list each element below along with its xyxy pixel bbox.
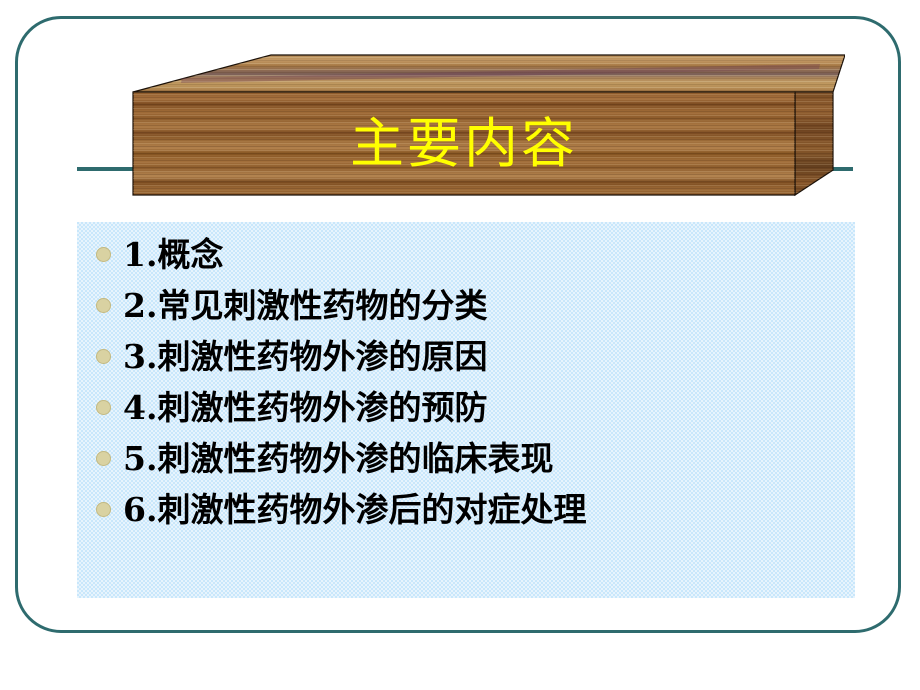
bullet-list: 1.概念 2.常见刺激性药物的分类 3.刺激性药物外渗的原因 4.刺激性药物外渗… — [89, 229, 855, 535]
bullet-dot-icon — [96, 502, 111, 517]
list-item-label: 6.刺激性药物外渗后的对症处理 — [123, 493, 586, 526]
bullet-dot-icon — [96, 400, 111, 415]
list-item-label: 5.刺激性药物外渗的临床表现 — [123, 442, 553, 475]
bullet-dot-icon — [96, 247, 111, 262]
bullet-dot-icon — [96, 451, 111, 466]
list-item[interactable]: 3.刺激性药物外渗的原因 — [89, 331, 855, 382]
list-item[interactable]: 5.刺激性药物外渗的临床表现 — [89, 433, 855, 484]
list-item-label: 3.刺激性药物外渗的原因 — [123, 340, 487, 373]
bullet-dot-icon — [96, 298, 111, 313]
bullet-dot-icon — [96, 349, 111, 364]
list-item-label: 2.常见刺激性药物的分类 — [123, 289, 487, 322]
page-title: 主要内容 — [133, 92, 795, 195]
list-item[interactable]: 1.概念 — [89, 229, 855, 280]
list-item-label: 1.概念 — [123, 238, 223, 271]
list-item[interactable]: 2.常见刺激性药物的分类 — [89, 280, 855, 331]
slide-canvas: 主要内容 1.概念 2.常见刺激性药物的分类 3.刺激性药物外渗的原因 4.刺激… — [0, 0, 920, 690]
content-panel: 1.概念 2.常见刺激性药物的分类 3.刺激性药物外渗的原因 4.刺激性药物外渗… — [77, 222, 855, 598]
list-item[interactable]: 4.刺激性药物外渗的预防 — [89, 382, 855, 433]
list-item[interactable]: 6.刺激性药物外渗后的对症处理 — [89, 484, 855, 535]
list-item-label: 4.刺激性药物外渗的预防 — [123, 391, 487, 424]
